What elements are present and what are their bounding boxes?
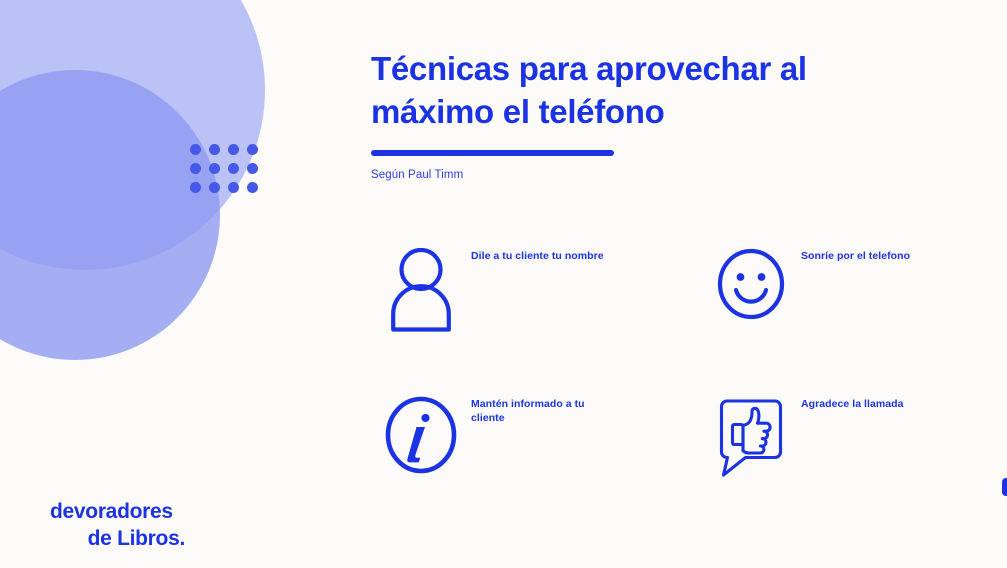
info-circle-icon: [371, 388, 471, 474]
grid-dot: [228, 163, 239, 174]
edge-decoration-sliver: [1002, 478, 1007, 496]
tip-item: Mantén informado a tu cliente: [371, 388, 701, 536]
grid-dot: [209, 163, 220, 174]
brand-logo-line-1: devoradores: [50, 499, 185, 526]
page-title-line-1: Técnicas para aprovechar al: [371, 50, 807, 87]
headline-block: Técnicas para aprovechar al máximo el te…: [371, 48, 841, 181]
grid-dot: [209, 144, 220, 155]
tip-label: Mantén informado a tu cliente: [471, 388, 606, 425]
tip-item: Agradece la llamada: [701, 388, 991, 536]
grid-dot: [247, 144, 258, 155]
grid-dot: [247, 163, 258, 174]
page-title-line-2: máximo el teléfono: [371, 93, 665, 130]
thumbs-up-bubble-icon: [701, 388, 801, 478]
smiley-face-icon: [701, 240, 801, 320]
tips-grid: Dile a tu cliente tu nombre Sonríe por e…: [371, 240, 991, 536]
slide: Técnicas para aprovechar al máximo el te…: [0, 0, 1007, 568]
grid-dot: [209, 182, 220, 193]
tip-item: Sonríe por el telefono: [701, 240, 991, 388]
title-underline-rule: [371, 150, 614, 156]
tip-label: Sonríe por el telefono: [801, 240, 910, 263]
grid-dot: [190, 163, 201, 174]
brand-logo-line-2: de Libros.: [50, 526, 185, 553]
person-icon: [371, 240, 471, 332]
dot-grid-decoration: [190, 144, 266, 201]
brand-logo: devoradores de Libros.: [50, 499, 185, 553]
grid-dot: [228, 144, 239, 155]
tip-label: Dile a tu cliente tu nombre: [471, 240, 604, 263]
tip-item: Dile a tu cliente tu nombre: [371, 240, 701, 388]
tip-label: Agradece la llamada: [801, 388, 904, 411]
grid-dot: [247, 182, 258, 193]
grid-dot: [190, 182, 201, 193]
grid-dot: [228, 182, 239, 193]
subtitle: Según Paul Timm: [371, 169, 841, 181]
page-title: Técnicas para aprovechar al máximo el te…: [371, 48, 841, 134]
grid-dot: [190, 144, 201, 155]
